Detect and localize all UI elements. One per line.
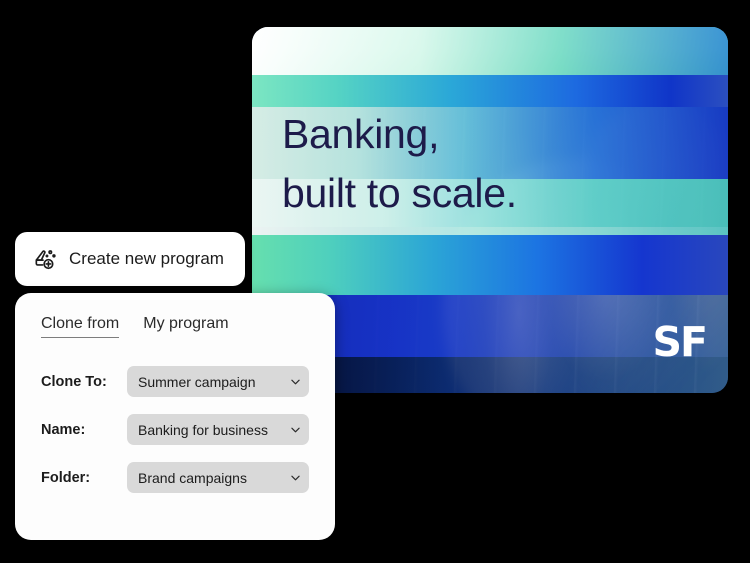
tab-my-program[interactable]: My program: [143, 315, 228, 338]
form-row-clone-to: Clone To: Summer campaign: [41, 366, 313, 397]
label-folder: Folder:: [41, 470, 127, 486]
select-name-value: Banking for business: [138, 422, 268, 438]
tab-clone-from[interactable]: Clone from: [41, 315, 119, 338]
create-new-program-label: Create new program: [69, 249, 224, 269]
banner-color-band-1: [252, 27, 728, 75]
select-name[interactable]: Banking for business: [127, 414, 309, 445]
select-folder[interactable]: Brand campaigns: [127, 462, 309, 493]
sf-logo: SF: [652, 322, 706, 363]
app-stage: Banking, built to scale. SF Create new p…: [0, 0, 750, 563]
tab-clone-from-label: Clone from: [41, 315, 119, 332]
banner-color-band-5: [252, 227, 728, 235]
banner-headline: Banking, built to scale.: [282, 105, 682, 223]
tab-my-program-label: My program: [143, 315, 228, 332]
label-name: Name:: [41, 422, 127, 438]
select-folder-value: Brand campaigns: [138, 470, 247, 486]
label-clone-to: Clone To:: [41, 374, 127, 390]
banner-color-band-2: [252, 75, 728, 107]
clone-program-form-card: Clone from My program Clone To: Summer c…: [15, 293, 335, 540]
form-row-name: Name: Banking for business: [41, 414, 313, 445]
form-tabs: Clone from My program: [41, 315, 313, 338]
create-program-icon: [33, 247, 58, 272]
create-new-program-button[interactable]: Create new program: [15, 232, 245, 286]
select-clone-to-value: Summer campaign: [138, 374, 256, 390]
banner-color-band-6: [252, 235, 728, 295]
select-clone-to[interactable]: Summer campaign: [127, 366, 309, 397]
form-row-folder: Folder: Brand campaigns: [41, 462, 313, 493]
